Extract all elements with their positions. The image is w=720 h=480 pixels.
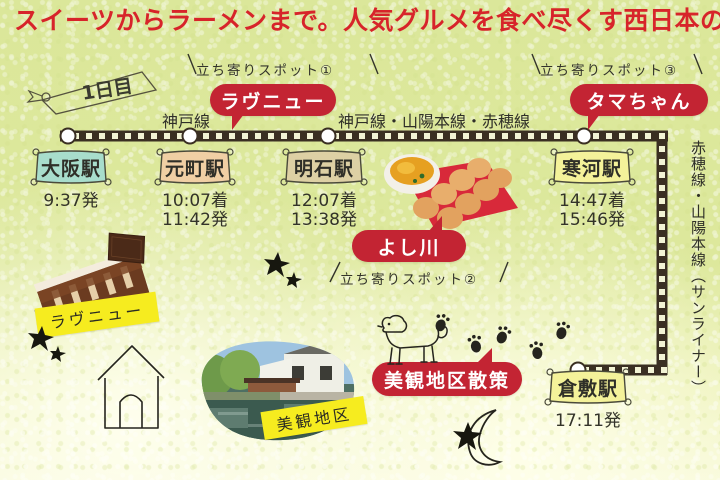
station-box-sohgoh: 寒河駅	[546, 148, 638, 186]
station-times-akashi: 12:07着 13:38発	[278, 192, 370, 230]
station-name-akashi: 明石駅	[294, 154, 354, 181]
activity-bubble-bikan[interactable]: 美観地区散策	[372, 362, 522, 396]
bubble-tail	[232, 114, 244, 130]
station-name-motomachi: 元町駅	[165, 154, 225, 181]
line-label-kobe: 神戸線	[162, 108, 210, 132]
spot-bubble-ravenue[interactable]: ラヴニュー	[210, 84, 336, 116]
station-times-kurashiki: 17:11発	[542, 412, 634, 431]
bubble-tail	[428, 216, 442, 232]
spot-bubble-tamachan-label: タマちゃん	[586, 87, 691, 114]
station-times-motomachi: 10:07着 11:42発	[152, 192, 238, 230]
station-times-sohgoh: 14:47着 15:46発	[546, 192, 638, 230]
spot-bubble-ravenue-label: ラヴニュー	[220, 87, 325, 114]
spot-header-1: 立ち寄りスポット①	[196, 59, 334, 79]
station-name-osaka: 大阪駅	[41, 154, 101, 181]
station-name-kurashiki: 倉敷駅	[558, 374, 618, 401]
bubble-tail	[476, 348, 492, 364]
itinerary-poster: スイーツからラーメンまで。人気グルメを食べ尽くす西日本の旅 1日目 神戸線 神戸…	[0, 0, 720, 480]
spot-bubble-tamachan[interactable]: タマちゃん	[570, 84, 708, 116]
line-label-kobe-sanyo-ako: 神戸線・山陽本線・赤穂線	[338, 108, 530, 132]
line-label-vertical: 赤穂線・山陽本線（サンライナー）	[676, 140, 706, 440]
akashiyaki-photo	[382, 152, 522, 234]
station-box-akashi: 明石駅	[278, 148, 370, 186]
station-name-sohgoh: 寒河駅	[562, 154, 622, 181]
bubble-tail	[588, 114, 600, 130]
station-box-osaka: 大阪駅	[28, 148, 114, 186]
activity-bubble-label: 美観地区散策	[384, 366, 510, 393]
station-box-kurashiki: 倉敷駅	[542, 368, 634, 406]
spot-header-2: 立ち寄りスポット②	[340, 268, 478, 288]
spot-bubble-yoshikawa[interactable]: よし川	[352, 230, 466, 262]
station-times-osaka: 9:37発	[28, 192, 114, 211]
station-box-motomachi: 元町駅	[152, 148, 238, 186]
spot-bubble-yoshikawa-label: よし川	[377, 233, 440, 260]
spot-header-3: 立ち寄りスポット③	[540, 59, 678, 79]
